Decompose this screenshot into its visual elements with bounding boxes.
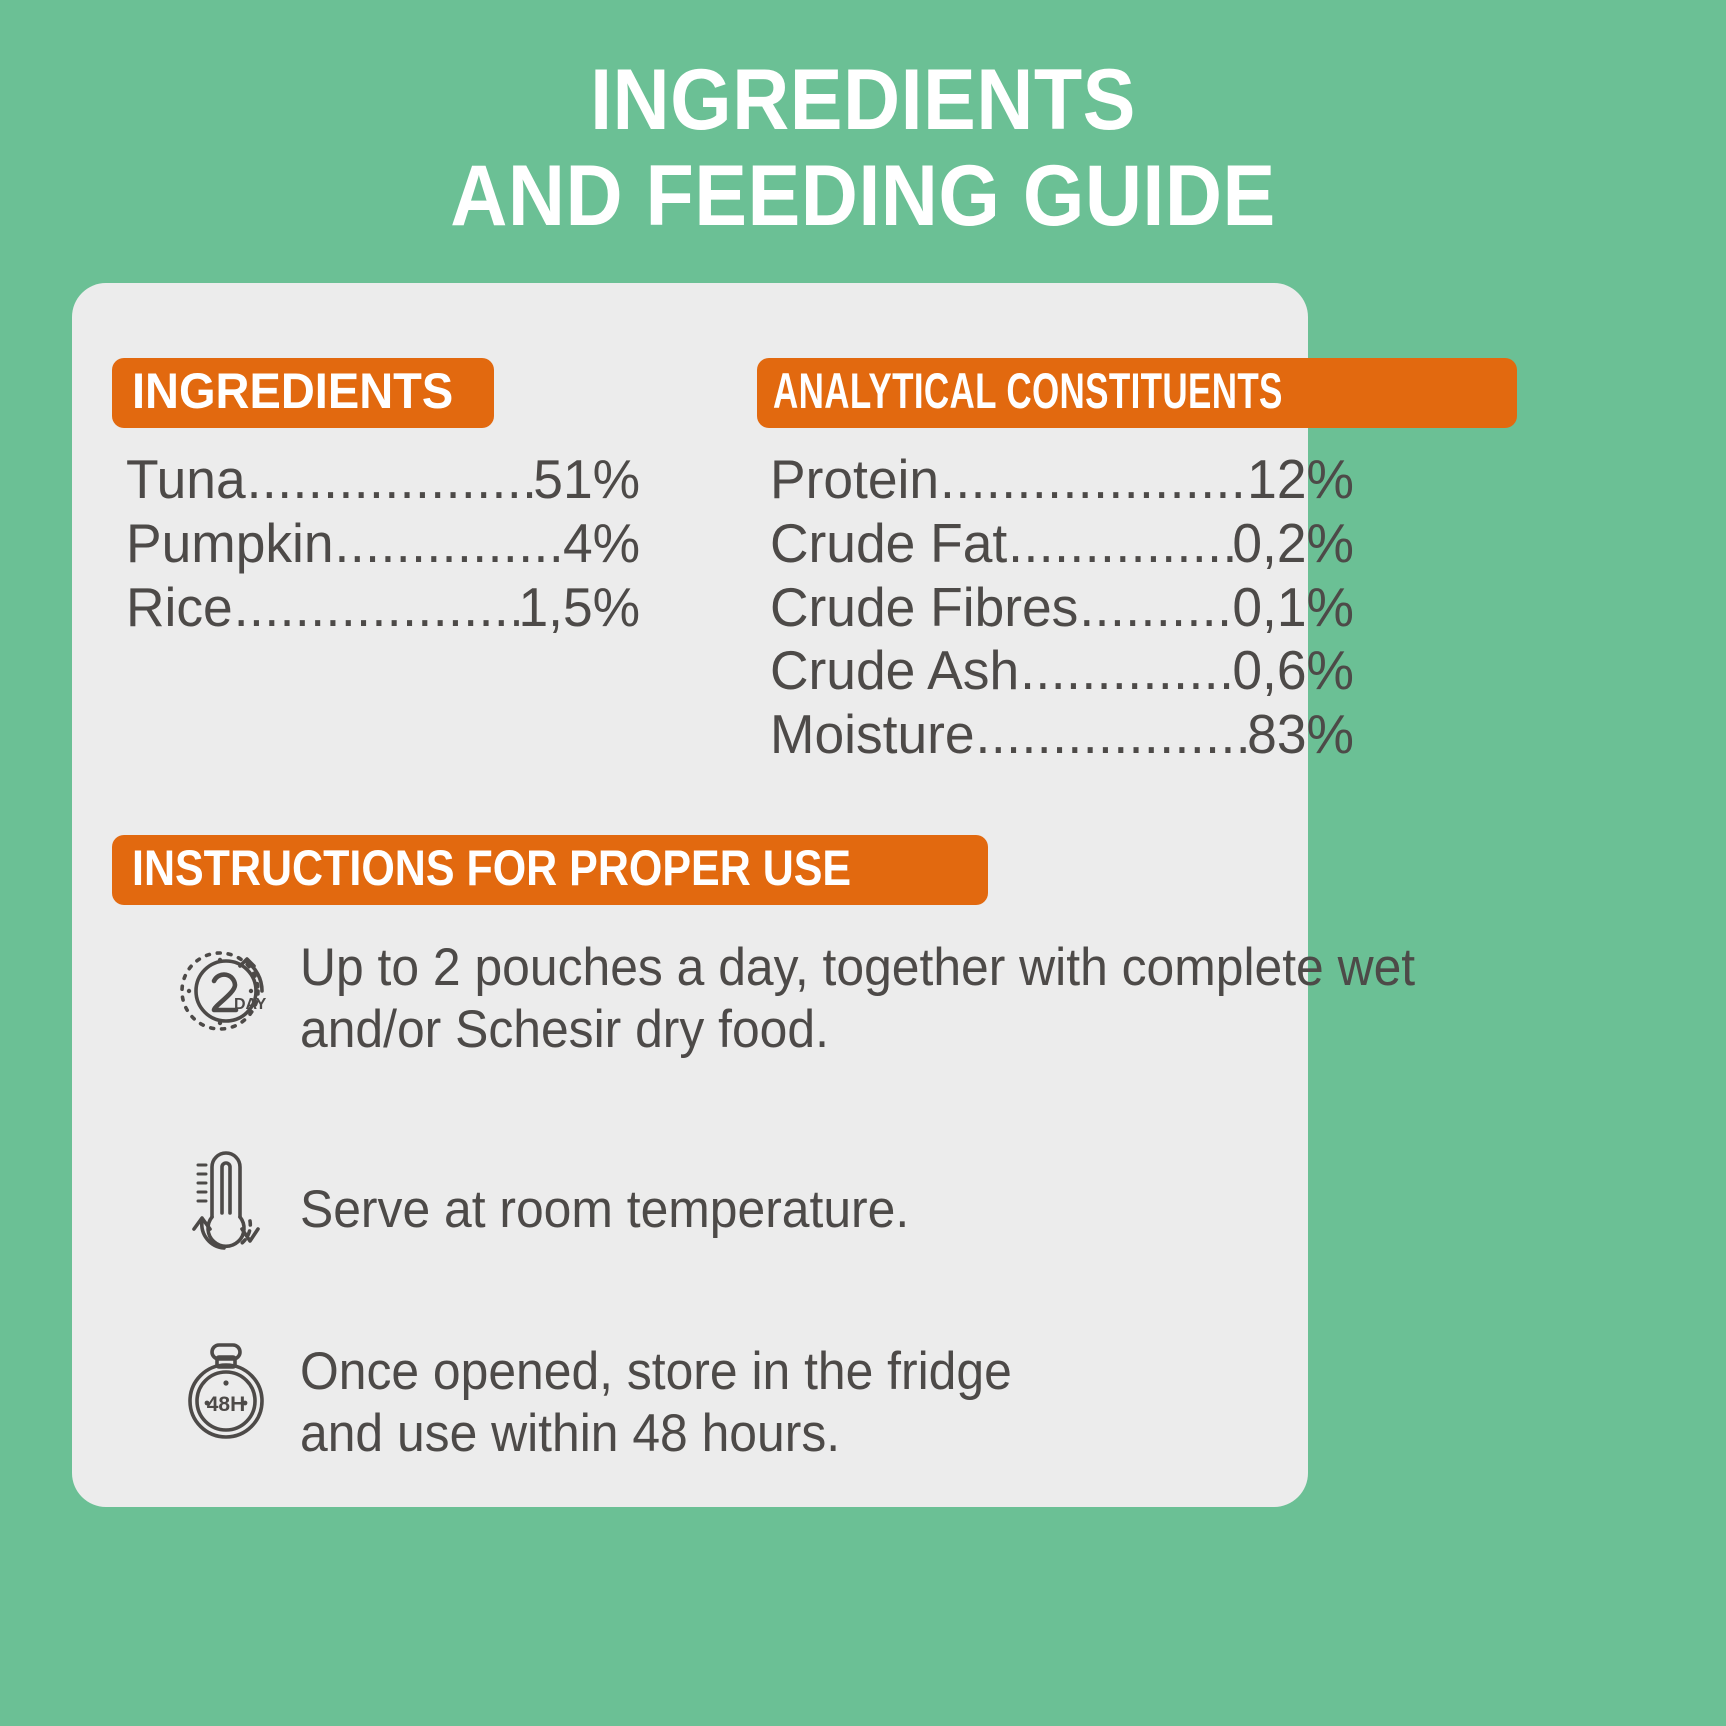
analytical-row: Crude Fat ..............................… [770, 512, 1354, 576]
instructions-list: DAY Up to 2 pouches a day, together with… [92, 931, 1292, 1527]
ingredient-value: 51% [533, 448, 640, 512]
instruction-text: Serve at room temperature. [300, 1149, 1232, 1241]
leader-dots: ........................................… [975, 703, 1248, 767]
analytical-list: Protein ................................… [770, 448, 1372, 767]
ingredients-heading-label: INGREDIENTS [132, 366, 453, 416]
ingredient-value: 4% [563, 512, 640, 576]
constituent-value: 0,1% [1232, 576, 1354, 640]
leader-dots: ........................................… [1007, 512, 1232, 576]
analytical-row: Crude Ash ..............................… [770, 639, 1354, 703]
constituent-value: 12% [1247, 448, 1354, 512]
analytical-heading-badge: ANALYTICAL CONSTITUENTS [757, 358, 1517, 428]
instruction-line-2: and/or Schesir dry food. [300, 999, 1415, 1061]
svg-text:48H: 48H [207, 1393, 246, 1416]
page-title-line-1: INGREDIENTS [69, 52, 1657, 148]
instructions-heading-badge: INSTRUCTIONS FOR PROPER USE [112, 835, 988, 905]
stopwatch-48h-icon: 48H [170, 1333, 282, 1445]
leader-dots: ........................................… [1078, 576, 1232, 640]
instructions-heading-label: INSTRUCTIONS FOR PROPER USE [132, 843, 851, 893]
instruction-item: DAY Up to 2 pouches a day, together with… [92, 931, 1292, 1061]
ingredient-label: Rice [126, 576, 233, 640]
instruction-line-1: Serve at room temperature. [300, 1179, 1232, 1241]
thermometer-room-temperature-icon [170, 1145, 282, 1257]
leader-dots: ........................................… [233, 576, 519, 640]
ingredient-label: Tuna [126, 448, 246, 512]
svg-text:DAY: DAY [234, 996, 267, 1013]
instruction-line-1: Up to 2 pouches a day, together with com… [300, 937, 1415, 999]
ingredients-heading-badge: INGREDIENTS [112, 358, 494, 428]
constituent-value: 83% [1247, 703, 1354, 767]
instruction-text: Once opened, store in the fridge and use… [300, 1333, 1232, 1465]
constituent-label: Protein [770, 448, 939, 512]
constituent-value: 0,6% [1232, 639, 1354, 703]
leader-dots: ........................................… [246, 448, 534, 512]
instruction-item: Serve at room temperature. [92, 1149, 1292, 1257]
constituent-value: 0,2% [1232, 512, 1354, 576]
analytical-row: Moisture ...............................… [770, 703, 1354, 767]
ingredients-list: Tuna ...................................… [126, 448, 656, 639]
page-title-line-2: AND FEEDING GUIDE [69, 148, 1657, 244]
leader-dots: ........................................… [334, 512, 563, 576]
constituent-label: Crude Fibres [770, 576, 1078, 640]
ingredient-label: Pumpkin [126, 512, 334, 576]
ingredient-value: 1,5% [518, 576, 640, 640]
instruction-line-1: Once opened, store in the fridge [300, 1341, 1232, 1403]
leader-dots: ........................................… [939, 448, 1247, 512]
ingredients-row: Tuna ...................................… [126, 448, 640, 512]
page-title: INGREDIENTS AND FEEDING GUIDE [69, 52, 1657, 245]
leader-dots: ........................................… [1019, 639, 1232, 703]
clock-2-day-icon: DAY [170, 933, 282, 1045]
instruction-text: Up to 2 pouches a day, together with com… [300, 931, 1415, 1061]
constituent-label: Crude Ash [770, 639, 1019, 703]
info-card: INGREDIENTS ANALYTICAL CONSTITUENTS Tuna… [72, 283, 1308, 1507]
analytical-row: Crude Fibres ...........................… [770, 576, 1354, 640]
constituent-label: Moisture [770, 703, 975, 767]
analytical-row: Protein ................................… [770, 448, 1354, 512]
analytical-heading-label: ANALYTICAL CONSTITUENTS [773, 366, 1283, 416]
instruction-line-2: and use within 48 hours. [300, 1403, 1232, 1465]
instruction-item: 48H Once opened, store in the fridge and… [92, 1333, 1292, 1465]
ingredients-row: Pumpkin ................................… [126, 512, 640, 576]
constituent-label: Crude Fat [770, 512, 1007, 576]
label-page: INGREDIENTS AND FEEDING GUIDE INGREDIENT… [0, 0, 1726, 1726]
ingredients-row: Rice ...................................… [126, 576, 640, 640]
